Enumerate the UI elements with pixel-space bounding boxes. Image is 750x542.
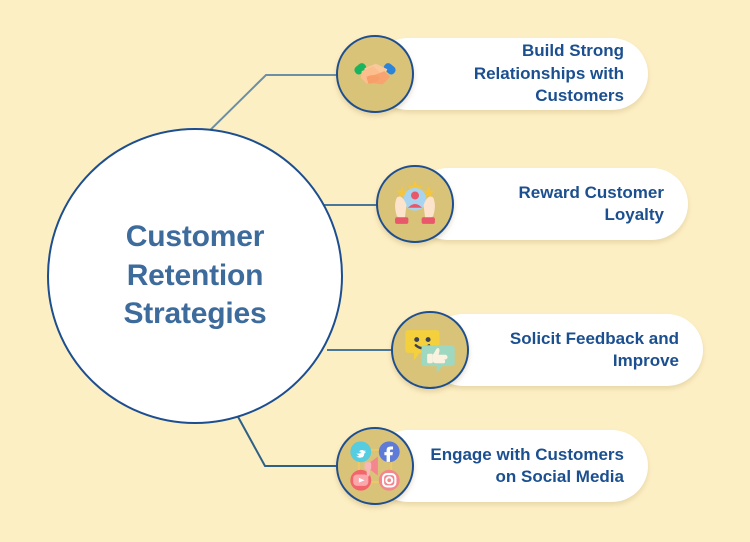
branch-item-3[interactable]: Solicit Feedback and Improve xyxy=(391,311,703,389)
center-node: Customer Retention Strategies xyxy=(47,128,343,424)
branch-label-1: Build Strong Relationships with Customer… xyxy=(474,40,624,107)
branch-item-2[interactable]: Reward Customer Loyalty xyxy=(376,165,688,243)
feedback-smiley-thumbsup-icon xyxy=(391,311,469,389)
branch-item-4[interactable]: Engage with Customers on Social Media xyxy=(336,427,648,505)
social-media-network-icon xyxy=(336,427,414,505)
handshake-icon xyxy=(336,35,414,113)
branch-item-1[interactable]: Build Strong Relationships with Customer… xyxy=(336,35,648,113)
branch-label-2: Reward Customer Loyalty xyxy=(519,182,664,227)
hands-holding-customer-with-stars-icon xyxy=(376,165,454,243)
branch-label-3: Solicit Feedback and Improve xyxy=(510,328,679,373)
infographic-canvas: Customer Retention Strategies Build Stro… xyxy=(0,0,750,542)
branch-label-4: Engage with Customers on Social Media xyxy=(430,444,624,489)
page-title: Customer Retention Strategies xyxy=(123,218,266,333)
instagram-badge-icon xyxy=(379,470,400,491)
